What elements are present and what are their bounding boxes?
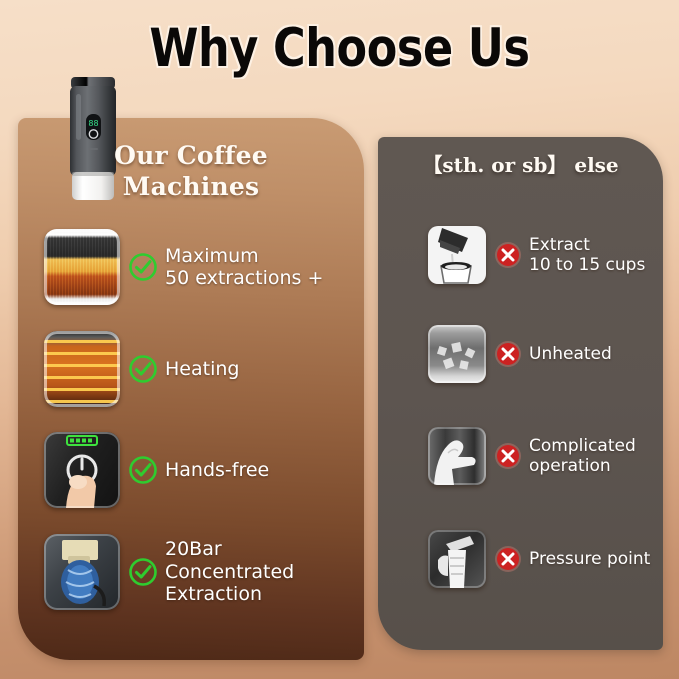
hand-squeezing-icon [428,530,486,588]
page-title: Why Choose Us [54,20,624,78]
list-item: Unheated [428,325,612,383]
red-cross-circle-icon [494,241,522,269]
pouring-into-cup-icon [428,226,486,284]
green-check-circle-icon [128,354,158,384]
list-item-label: Unheated [529,344,612,364]
list-item-label: Pressure point [529,549,650,569]
machine-display-value: 88 [88,119,98,128]
list-item: Hands-free [44,432,269,508]
hand-pressing-icon [428,427,486,485]
list-item-label: Maximum 50 extractions + [165,245,323,290]
left-heading-line-1: Our Coffee [18,140,364,171]
heating-coils-icon [44,331,120,407]
why-choose-us-poster: Why Choose Us [0,0,679,679]
list-item: Maximum 50 extractions + [44,229,323,305]
green-check-circle-icon [128,252,158,282]
list-item-label: 20Bar Concentrated Extraction [165,538,294,605]
red-cross-circle-icon [494,545,522,573]
list-item-label: Extract 10 to 15 cups [529,235,645,275]
list-item-label: Heating [165,358,239,380]
list-item-label: Hands-free [165,459,269,481]
red-cross-circle-icon [494,340,522,368]
layered-coffee-glass-icon [44,229,120,305]
list-item: Heating [44,331,239,407]
right-panel-heading: 【sth. or sb】 else [378,152,663,178]
cold-ice-glass-icon [428,325,486,383]
red-cross-circle-icon [494,442,522,470]
pressure-pump-icon [44,534,120,610]
list-item: 20Bar Concentrated Extraction [44,534,294,610]
list-item: Extract 10 to 15 cups [428,226,645,284]
one-touch-button-icon [44,432,120,508]
list-item: Complicated operation [428,427,636,485]
list-item: Pressure point [428,530,650,588]
list-item-label: Complicated operation [529,436,636,476]
left-heading-line-2: Machines [18,171,364,202]
green-check-circle-icon [128,557,158,587]
green-check-circle-icon [128,455,158,485]
left-panel-heading: Our Coffee Machines [18,140,364,202]
